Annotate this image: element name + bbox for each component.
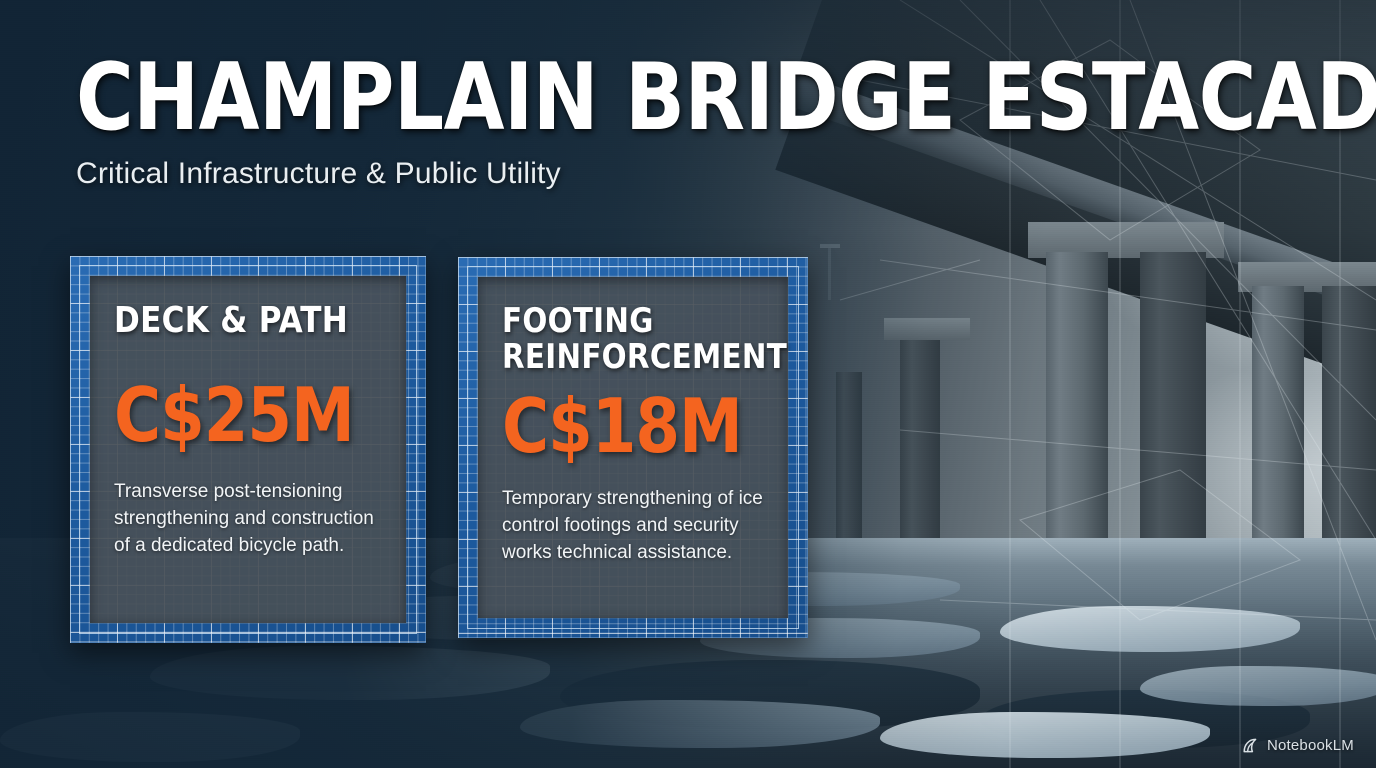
- stat-card-panel: DECK & PATH C$25M Transverse post-tensio…: [90, 276, 406, 623]
- stat-card-footing-reinforcement[interactable]: FOOTING REINFORCEMENT C$18M Temporary st…: [458, 257, 808, 638]
- stat-card-amount: C$25M: [114, 378, 369, 453]
- stat-card-panel: FOOTING REINFORCEMENT C$18M Temporary st…: [478, 277, 788, 618]
- stat-card-description: Transverse post-tensioning strengthening…: [114, 479, 382, 560]
- stat-card-title: FOOTING REINFORCEMENT: [502, 303, 754, 375]
- header: CHAMPLAIN BRIDGE ESTACADE Critical Infra…: [76, 52, 1196, 191]
- stat-card-title: DECK & PATH: [114, 302, 371, 340]
- notebooklm-logo-icon: [1243, 738, 1260, 753]
- infographic-slide: CHAMPLAIN BRIDGE ESTACADE Critical Infra…: [0, 0, 1376, 768]
- page-subtitle: Critical Infrastructure & Public Utility: [76, 157, 1196, 191]
- stat-card-deck-path[interactable]: DECK & PATH C$25M Transverse post-tensio…: [70, 256, 426, 643]
- watermark-label: NotebookLM: [1267, 737, 1354, 754]
- stat-card-description: Temporary strengthening of ice control f…: [502, 486, 764, 567]
- page-title: CHAMPLAIN BRIDGE ESTACADE: [76, 52, 1129, 143]
- watermark: NotebookLM: [1243, 737, 1354, 754]
- stat-card-amount: C$18M: [502, 389, 751, 464]
